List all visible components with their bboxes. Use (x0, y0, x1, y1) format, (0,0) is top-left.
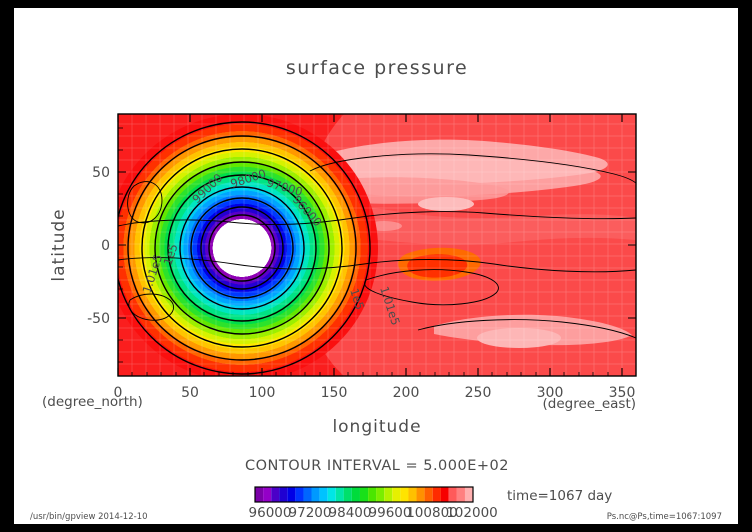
x-tick-label: 100 (249, 385, 276, 401)
colorbar-tick-label: 102000 (446, 505, 498, 521)
y-tick-label: -50 (87, 311, 110, 327)
figure-svg: surface pressure (14, 8, 738, 524)
colorbar-tick-label: 97200 (289, 505, 332, 521)
x-tick-label: 150 (321, 385, 348, 401)
x-axis-title: longitude (332, 417, 421, 437)
colorbar-tick-labels: 96000 97200 98400 99600 100800 102000 (249, 505, 498, 521)
x-tick-label: 250 (465, 385, 492, 401)
time-label: time=1067 day (507, 488, 612, 504)
x-tick-label: 50 (181, 385, 199, 401)
page-title: surface pressure (286, 57, 468, 79)
colorbar-tick-label: 96000 (249, 505, 292, 521)
footer-right: Ps.nc@Ps,time=1067:1097 (607, 512, 722, 522)
screenshot-root: surface pressure (0, 0, 752, 532)
colorbar-tick-label: 98400 (329, 505, 372, 521)
footer-left: /usr/bin/gpview 2014-12-10 (30, 512, 148, 522)
y-tick-label: 50 (92, 165, 110, 181)
figure-paper: surface pressure (14, 8, 738, 524)
y-unit-label: (degree_north) (42, 394, 143, 410)
contour-interval-label: CONTOUR INTERVAL = 5.000E+02 (245, 458, 509, 474)
x-unit-label: (degree_east) (543, 396, 637, 412)
colorbar-tick-label: 99600 (369, 505, 412, 521)
y-tick-label: 0 (101, 238, 110, 254)
low-pressure-system (106, 114, 378, 382)
y-axis-title: latitude (49, 208, 69, 281)
x-tick-label: 200 (393, 385, 420, 401)
colorbar-swatches (255, 487, 473, 502)
